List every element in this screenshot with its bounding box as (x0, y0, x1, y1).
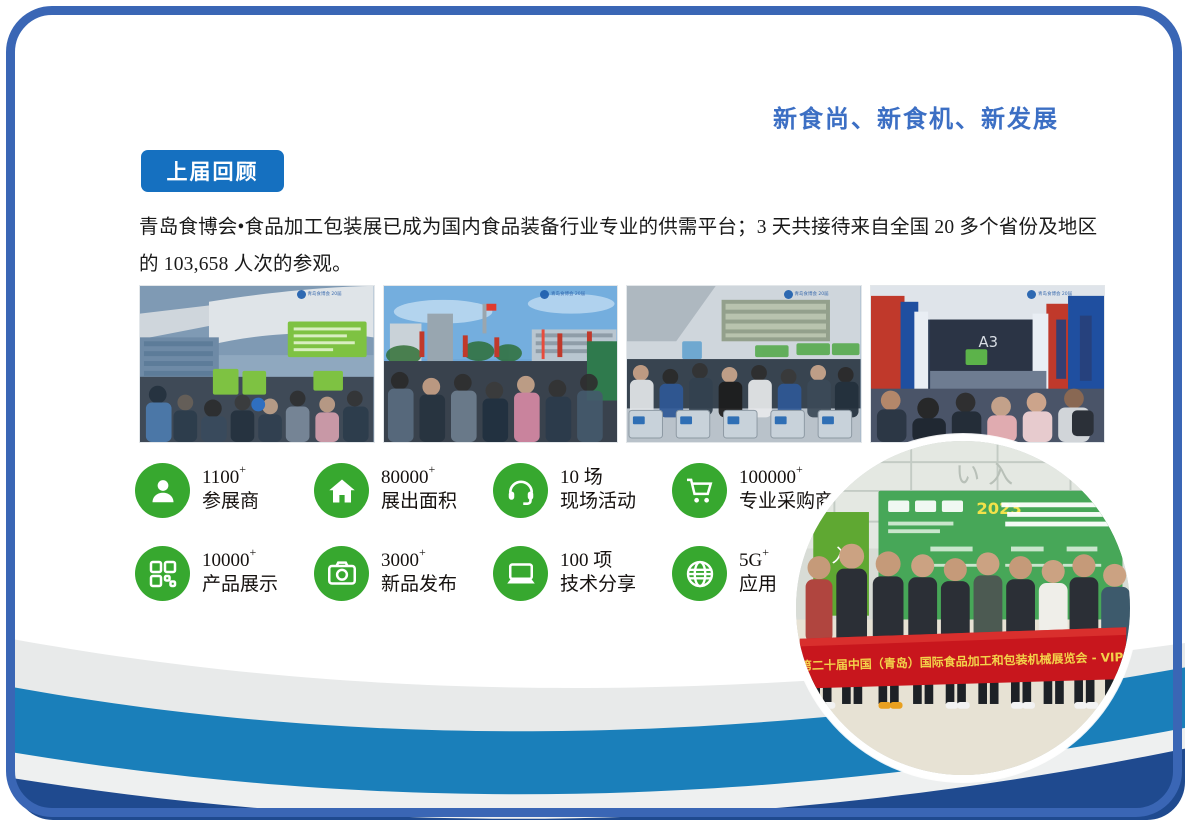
person-icon (135, 463, 190, 518)
stat-label: 参展商 (202, 491, 259, 512)
stat-text: 1100+ 参展商 (202, 466, 259, 515)
stat-label: 产品展示 (202, 574, 278, 595)
qrgrid-icon (135, 546, 190, 601)
stat-products: 10000+ 产品展示 (135, 546, 314, 601)
photo-watermark: 青岛食博会 20届 (784, 288, 858, 300)
stat-text: 10 场 现场活动 (560, 466, 636, 515)
photo-vip-group: い 入 入 2023 (789, 434, 1137, 782)
content-clip: 新食尚、新食机、新发展 上届回顾 青岛食博会•食品加工包装展已成为国内食品装备行… (15, 15, 1185, 820)
stat-onsite-events: 10 场 现场活动 (493, 463, 672, 518)
stat-text: 3000+ 新品发布 (381, 549, 457, 598)
stat-text: 5G+ 应用 (739, 549, 777, 598)
stat-number: 1100+ (202, 467, 246, 488)
stats-row-1: 1100+ 参展商 80000+ 展出面积 (135, 463, 925, 518)
photo-strip: 青岛食博会 20届 (139, 285, 1105, 443)
watermark-logo-icon (540, 290, 549, 299)
photo-outdoor-queue: 青岛食博会 20届 (383, 285, 619, 443)
watermark-logo-icon (297, 290, 306, 299)
camera-icon (314, 546, 369, 601)
home-icon (314, 463, 369, 518)
stat-text: 80000+ 展出面积 (381, 466, 457, 515)
photo-entrance-crowd: 青岛食博会 20届 (139, 285, 375, 443)
poster-page: 新食尚、新食机、新发展 上届回顾 青岛食博会•食品加工包装展已成为国内食品装备行… (0, 0, 1200, 835)
stat-exhibitors: 1100+ 参展商 (135, 463, 314, 518)
stat-exhibit-area: 80000+ 展出面积 (314, 463, 493, 518)
headset-icon (493, 463, 548, 518)
stat-number: 100000+ (739, 467, 803, 488)
stat-number: 10000+ (202, 550, 256, 571)
cart-icon (672, 463, 727, 518)
photo-watermark: 青岛食博会 20届 (540, 288, 614, 300)
photo-turnstile-entry: 青岛食博会 20届 (626, 285, 862, 443)
svg-text:A3: A3 (978, 334, 998, 351)
page-slogan: 新食尚、新食机、新发展 (773, 99, 1059, 134)
stat-text: 100 项 技术分享 (560, 549, 636, 598)
globe-icon (672, 546, 727, 601)
intro-paragraph: 青岛食博会•食品加工包装展已成为国内食品装备行业专业的供需平台；3 天共接待来自… (139, 209, 1107, 283)
stat-new-products: 3000+ 新品发布 (314, 546, 493, 601)
stat-number: 5G+ (739, 550, 769, 571)
stat-text: 10000+ 产品展示 (202, 549, 278, 598)
stat-label: 新品发布 (381, 574, 457, 595)
stat-number: 10 场 (560, 467, 603, 488)
stat-number: 3000+ (381, 550, 426, 571)
stat-number: 80000+ (381, 467, 435, 488)
svg-text:い 入: い 入 (955, 460, 1013, 489)
watermark-logo-icon (784, 290, 793, 299)
stat-label: 展出面积 (381, 491, 457, 512)
stat-label: 应用 (739, 574, 777, 595)
photo-watermark: 青岛食博会 20届 (297, 288, 371, 300)
stat-label: 技术分享 (560, 574, 636, 595)
laptop-icon (493, 546, 548, 601)
photo-exhibit-hall-aisle: A3 (870, 285, 1106, 443)
stat-number: 100 项 (560, 550, 612, 571)
watermark-logo-icon (1027, 290, 1036, 299)
stat-label: 现场活动 (560, 491, 636, 512)
section-badge: 上届回顾 (141, 150, 284, 192)
section-badge-label: 上届回顾 (167, 156, 259, 186)
stat-tech-sharing: 100 项 技术分享 (493, 546, 672, 601)
photo-watermark: 青岛食博会 20届 (1027, 288, 1101, 300)
